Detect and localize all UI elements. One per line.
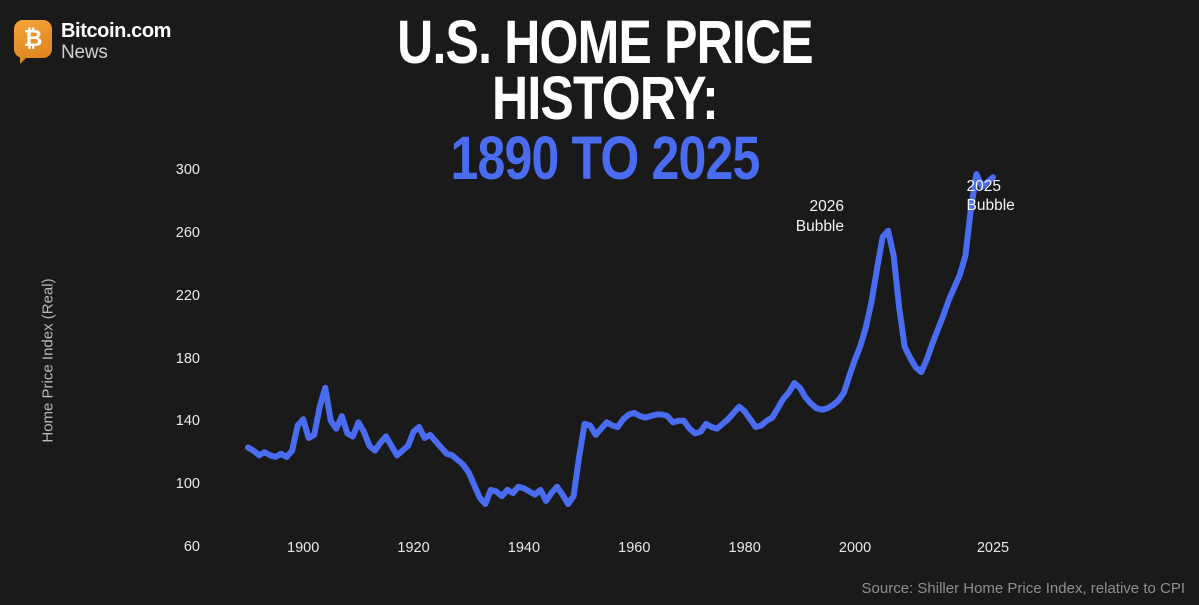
infographic-root: ₿ Bitcoin.com News U.S. HOME PRICE HISTO… bbox=[0, 0, 1199, 605]
series-line-shiller-index bbox=[248, 174, 993, 504]
chart-plot-area bbox=[0, 0, 1199, 605]
annotation-bubble-2025: 2025 Bubble bbox=[967, 177, 1077, 217]
line-chart: Home Price Index (Real) 6010014018022026… bbox=[0, 0, 1199, 605]
bitcoin-symbol: ₿ bbox=[24, 28, 43, 51]
source-note: Source: Shiller Home Price Index, relati… bbox=[862, 580, 1185, 597]
annotation-bubble-2026: 2026 Bubble bbox=[774, 197, 844, 237]
